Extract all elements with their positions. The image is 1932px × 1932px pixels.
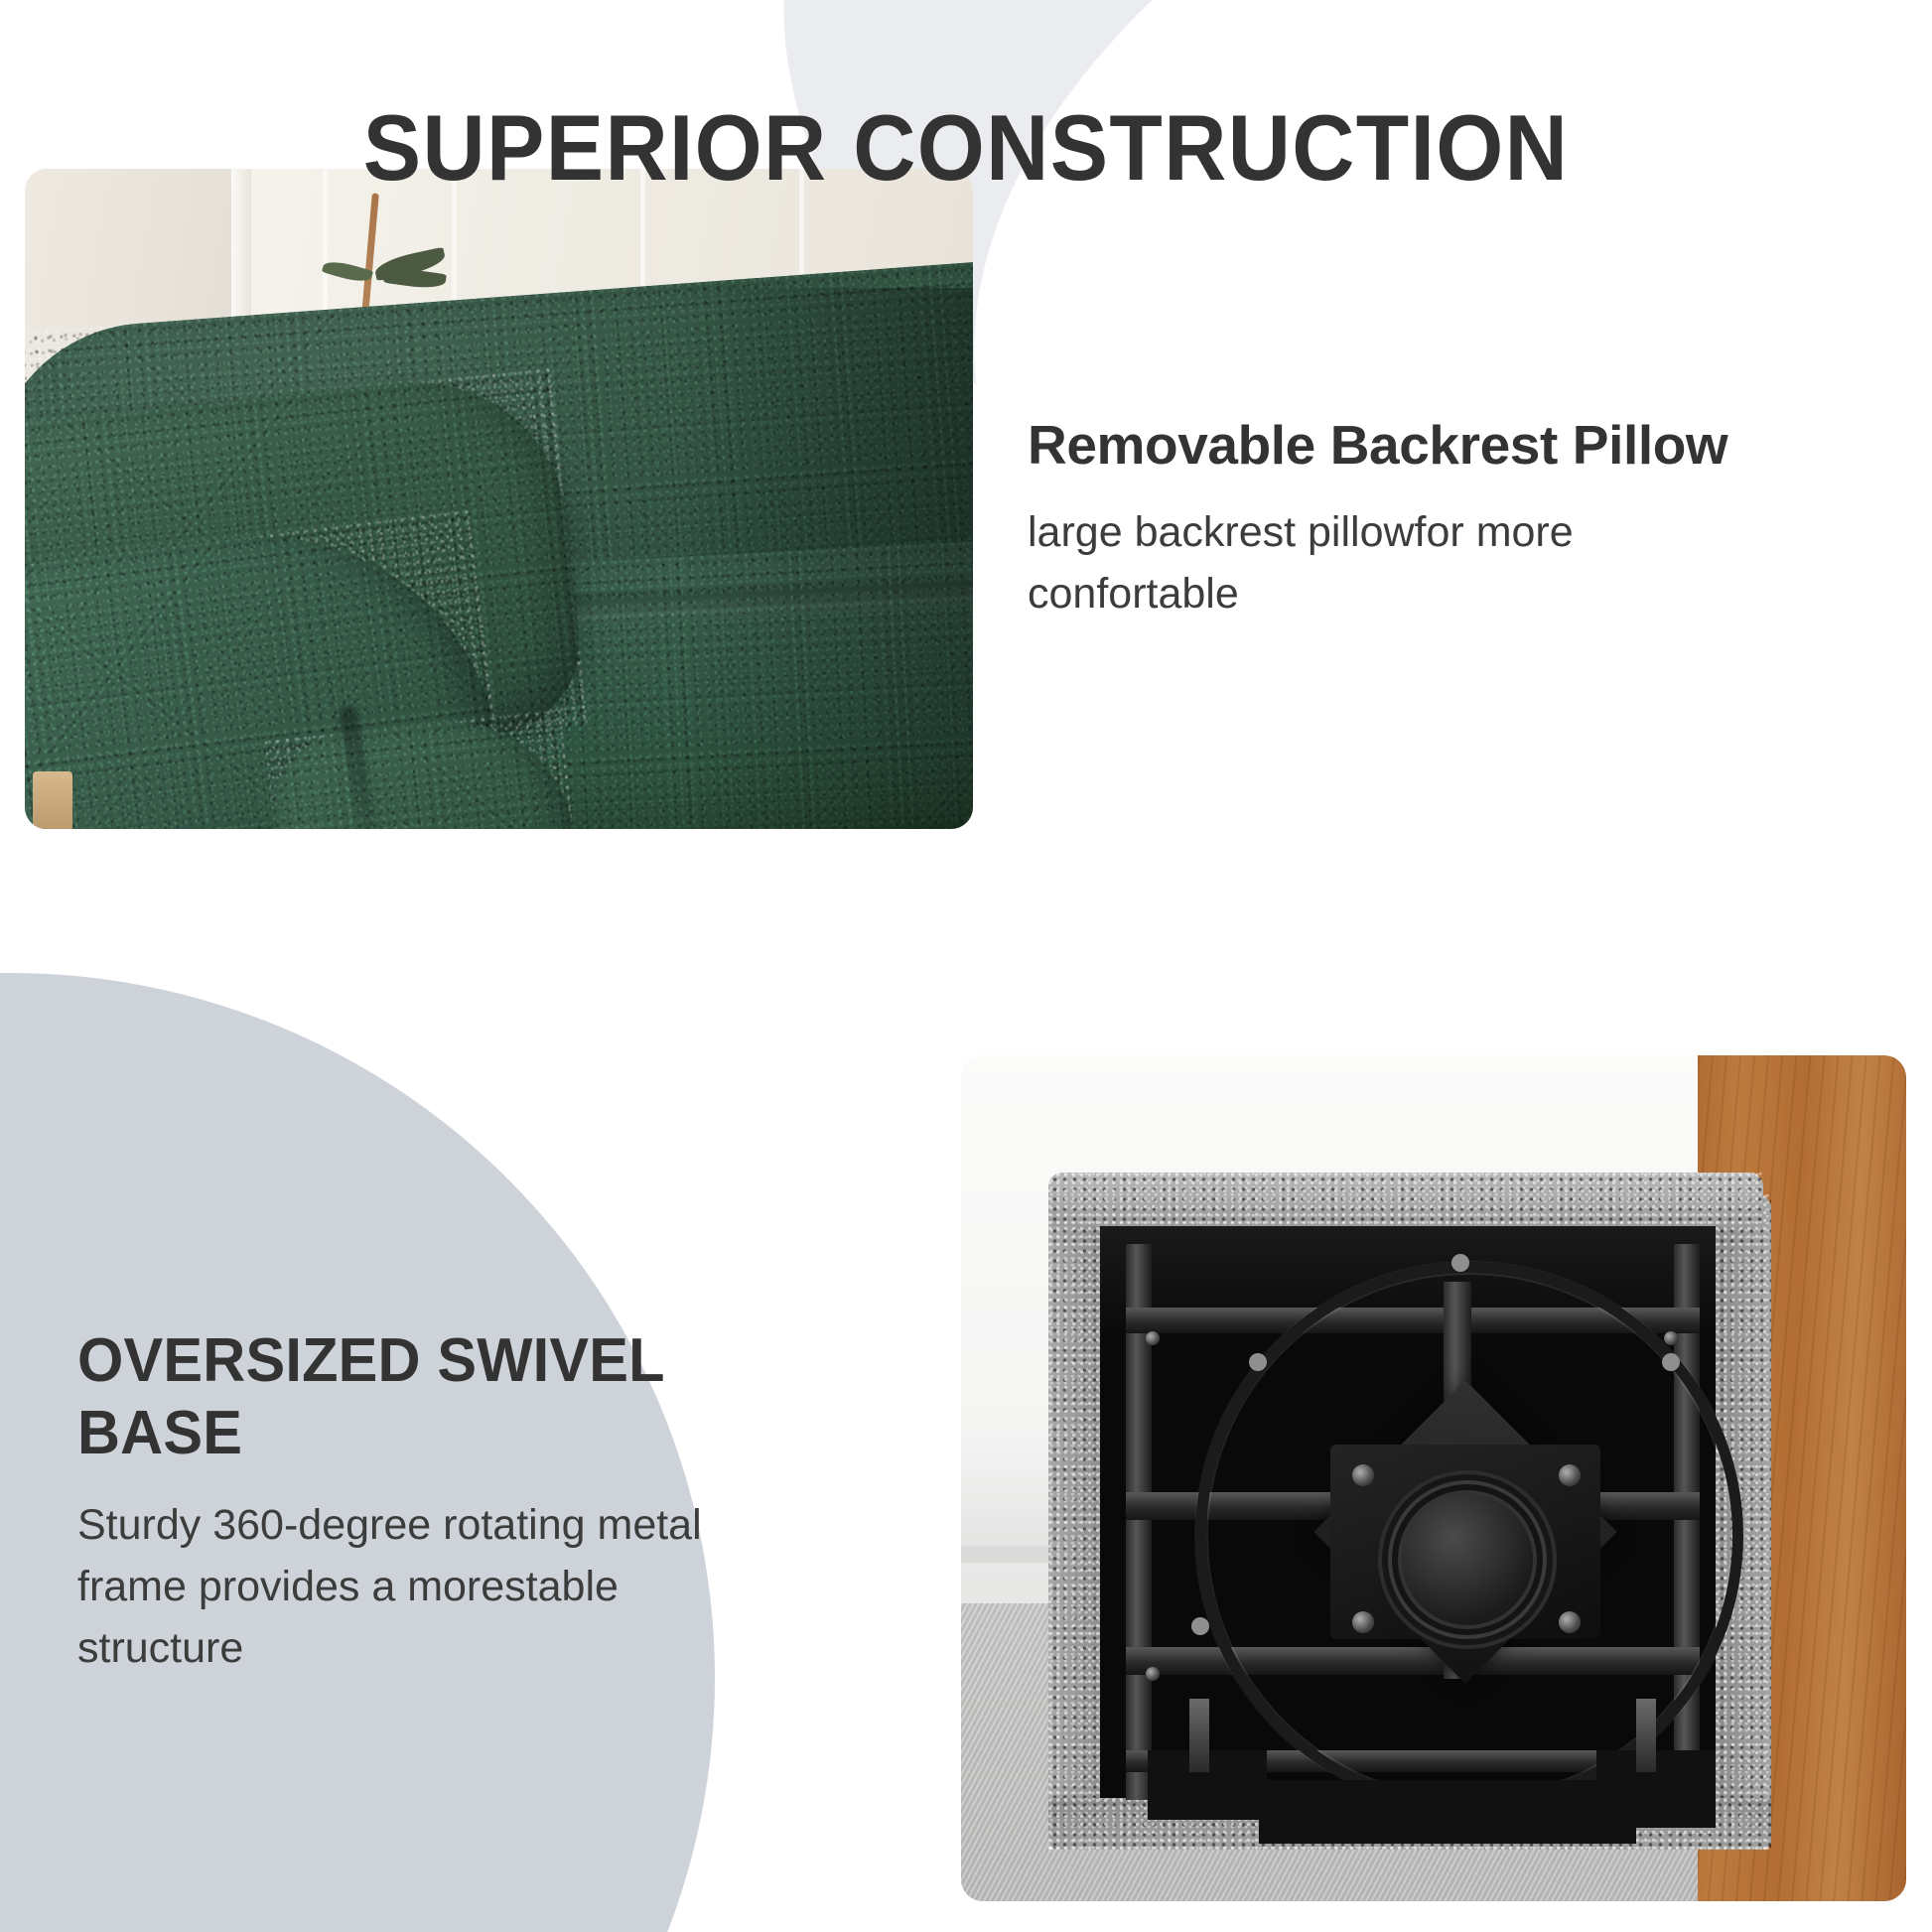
feature-heading-swivel: OVERSIZED SWIVEL BASE	[77, 1325, 763, 1469]
upholstery-edge-top	[1048, 1173, 1763, 1226]
frame-rivet	[1146, 1331, 1160, 1345]
mount-bolt	[1352, 1464, 1374, 1486]
boucle-texture	[1048, 1173, 1763, 1226]
base-foot-right	[1596, 1750, 1716, 1828]
base-bar	[1259, 1780, 1636, 1844]
frame-rivet	[1664, 1331, 1678, 1345]
metal-bracket-right	[1636, 1699, 1656, 1772]
frame-rivet	[1146, 1667, 1160, 1681]
infographic-canvas: SUPERIOR CONSTRUCTION	[0, 0, 1932, 1932]
background-block-bottom-left	[0, 1023, 60, 1932]
photo-removable-backrest-pillow	[25, 169, 973, 829]
feature-oversized-swivel-base: OVERSIZED SWIVEL BASE Sturdy 360-degree …	[77, 1325, 792, 1680]
upholstery-edge-left	[1048, 1194, 1100, 1850]
metal-bracket-left	[1189, 1699, 1209, 1772]
ring-node	[1662, 1353, 1680, 1371]
feature-body-pillow: large backrest pillowfor more confortabl…	[1028, 502, 1782, 625]
photo-oversized-swivel-base	[961, 1055, 1906, 1901]
feature-removable-backrest-pillow: Removable Backrest Pillow large backrest…	[1028, 413, 1782, 625]
swivel-bearing	[1378, 1470, 1557, 1649]
photo-vignette	[675, 288, 973, 829]
mount-bolt	[1559, 1464, 1581, 1486]
ring-node	[1451, 1254, 1469, 1272]
mount-bolt	[1352, 1611, 1374, 1633]
ring-node	[1249, 1353, 1267, 1371]
page-title: SUPERIOR CONSTRUCTION	[68, 98, 1864, 198]
wooden-sofa-leg	[33, 771, 72, 829]
feature-body-swivel: Sturdy 360-degree rotating metal frame p…	[77, 1495, 792, 1680]
ring-node	[1191, 1617, 1209, 1635]
boucle-texture	[1048, 1194, 1100, 1850]
mount-bolt	[1559, 1611, 1581, 1633]
feature-heading-pillow: Removable Backrest Pillow	[1028, 413, 1782, 477]
